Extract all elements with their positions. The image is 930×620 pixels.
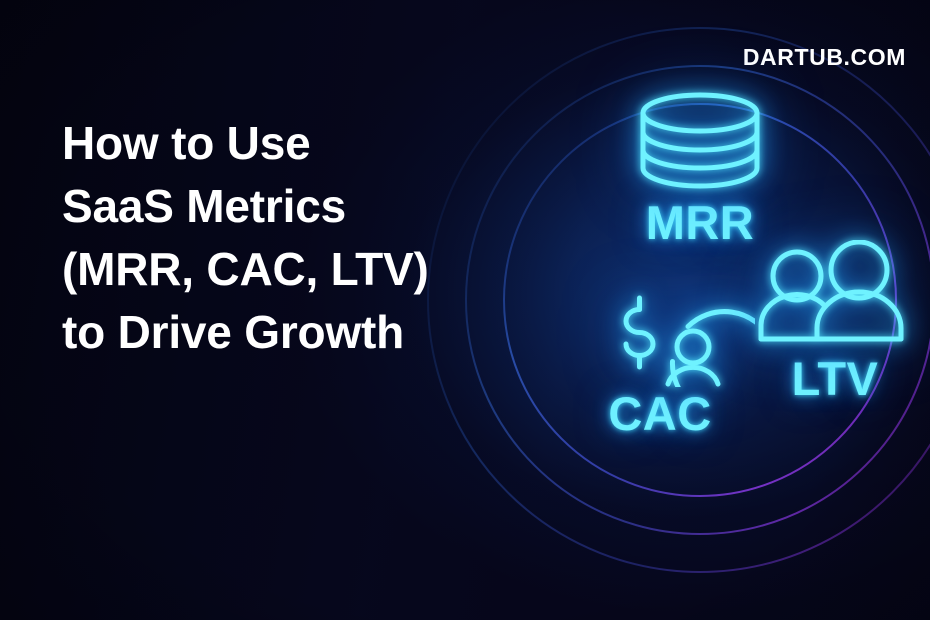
title-line-1: How to Use [62,112,532,175]
title-line-2: SaaS Metrics [62,175,532,238]
metric-node-cac: CAC [565,265,755,439]
metric-label-ltv: LTV [745,354,925,404]
metrics-icon-cluster: MRR CAC [470,70,930,490]
metric-node-ltv: LTV [745,240,925,404]
metric-label-cac: CAC [565,389,755,439]
two-people-icon [745,240,925,352]
metric-node-mrr: MRR [610,90,790,248]
brand-watermark: DARTUB.COM [743,44,906,71]
page-title: How to Use SaaS Metrics (MRR, CAC, LTV) … [62,112,532,364]
title-line-3: (MRR, CAC, LTV) [62,238,532,301]
thumbnail-canvas: DARTUB.COM How to Use SaaS Metrics (MRR,… [0,0,930,620]
dollar-circle-person-icon [565,265,755,387]
database-cylinder-icon [610,90,790,192]
title-line-4: to Drive Growth [62,301,532,364]
